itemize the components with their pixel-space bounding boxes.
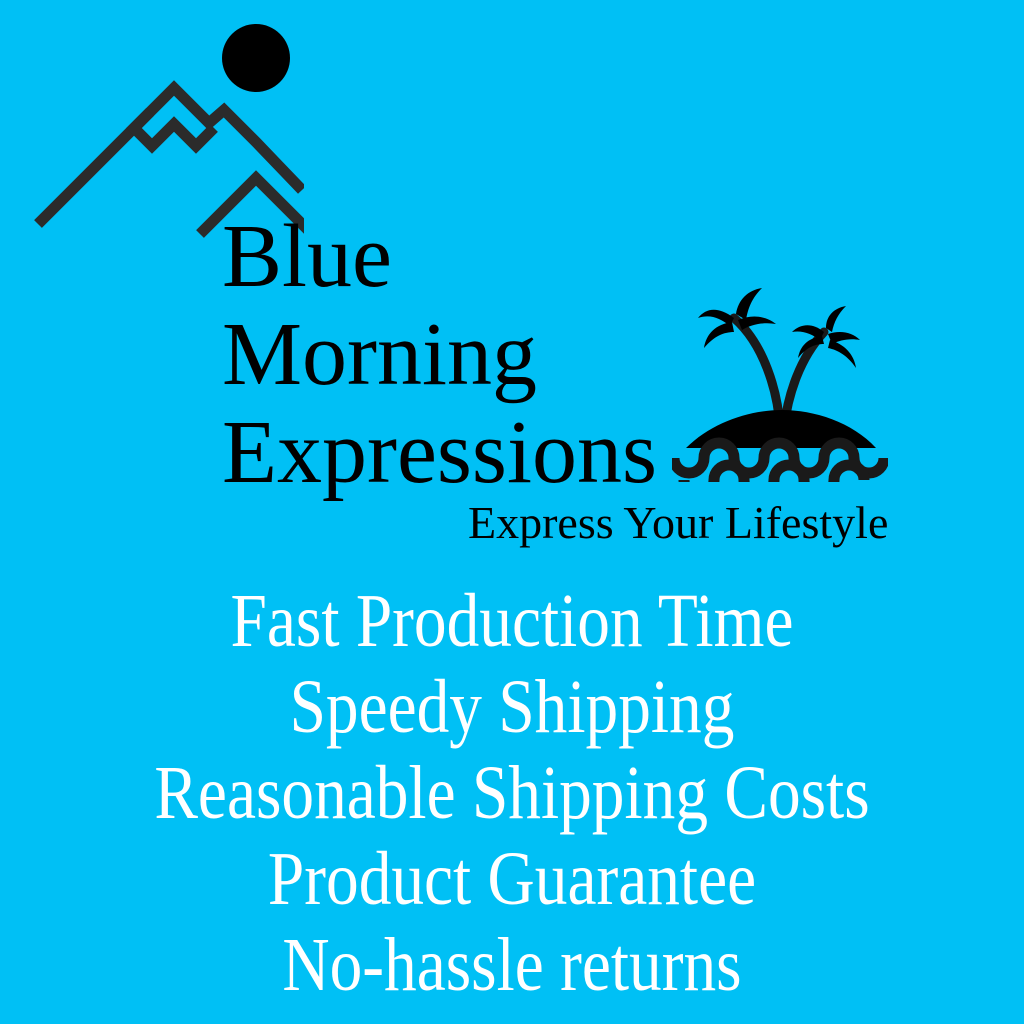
brand-line-1: Blue xyxy=(222,208,742,306)
brand-tagline: Express Your Lifestyle xyxy=(468,498,888,548)
benefit-line-2: Speedy Shipping xyxy=(72,664,953,750)
benefit-line-3: Reasonable Shipping Costs xyxy=(72,750,953,836)
brand-line-2: Morning xyxy=(222,306,742,404)
benefit-line-4: Product Guarantee xyxy=(72,836,953,922)
benefit-line-1: Fast Production Time xyxy=(72,578,953,664)
brand-line-3: Expressions xyxy=(222,404,742,502)
brand-name: Blue Morning Expressions xyxy=(222,208,742,502)
brand-logo-block: Blue Morning Expressions Express Your Li… xyxy=(0,0,1024,570)
benefit-line-5: No-hassle returns xyxy=(72,922,953,1008)
promo-graphic: Blue Morning Expressions Express Your Li… xyxy=(0,0,1024,1024)
benefits-list: Fast Production Time Speedy Shipping Rea… xyxy=(0,578,1024,1008)
